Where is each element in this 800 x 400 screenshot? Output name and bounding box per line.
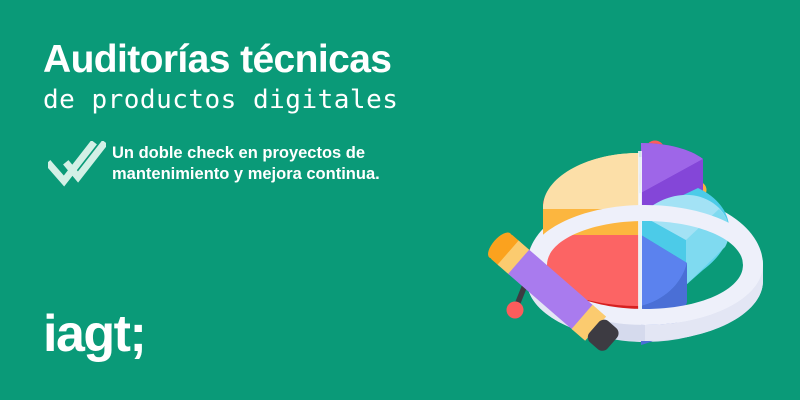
promo-banner: Auditorías técnicas de productos digital… <box>0 0 800 400</box>
logo-iagt[interactable]: iagt; <box>43 306 145 362</box>
tagline-line-2: mantenimiento y mejora continua. <box>112 165 380 183</box>
headline-block: Auditorías técnicas de productos digital… <box>43 38 463 116</box>
double-check-icon <box>48 141 106 187</box>
tagline-text: Un doble check en proyectos de mantenimi… <box>112 143 380 185</box>
page-subtitle: de productos digitales <box>43 84 463 116</box>
page-title: Auditorías técnicas <box>43 38 463 82</box>
tagline-block: Un doble check en proyectos de mantenimi… <box>48 141 380 187</box>
illustration-magnifier-chart <box>455 85 785 385</box>
line-chart-point <box>507 302 524 319</box>
tagline-line-1: Un doble check en proyectos de <box>112 144 365 162</box>
